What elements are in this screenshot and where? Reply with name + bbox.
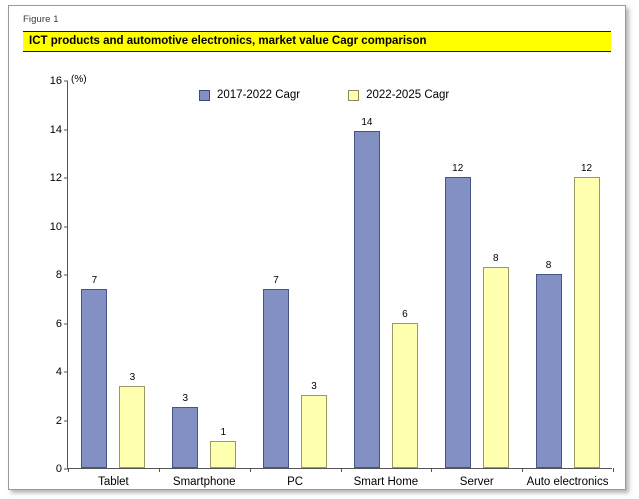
bar: 8 — [483, 267, 509, 468]
x-axis-tick-label: Auto electronics — [527, 476, 609, 488]
figure-title-bar: ICT products and automotive electronics,… — [23, 31, 611, 52]
bar: 7 — [81, 289, 107, 468]
bar-group: 73Tablet — [68, 81, 159, 468]
figure-number-label: Figure 1 — [23, 14, 59, 25]
x-axis-tick-label: Smart Home — [354, 476, 419, 488]
bar: 7 — [263, 289, 289, 468]
x-axis-tick-mark — [613, 468, 614, 472]
bar: 3 — [172, 407, 198, 468]
page-title: ICT products and automotive electronics,… — [29, 35, 427, 47]
chart-plot-area: 0246810121416 73Tablet31Smartphone73PC14… — [67, 81, 612, 469]
bar: 12 — [574, 177, 600, 468]
bar: 1 — [210, 441, 236, 468]
chart-axes: 0246810121416 73Tablet31Smartphone73PC14… — [67, 81, 612, 469]
bar: 14 — [354, 131, 380, 468]
bar-value-label: 12 — [452, 163, 463, 174]
bar: 3 — [301, 395, 327, 468]
bar-value-label: 14 — [361, 117, 372, 128]
bar-value-label: 3 — [182, 393, 188, 404]
figure-page: Figure 1 ICT products and automotive ele… — [0, 0, 639, 499]
bar-group: 128Server — [431, 81, 522, 468]
bar: 12 — [445, 177, 471, 468]
bar-group: 146Smart Home — [341, 81, 432, 468]
bar-value-label: 3 — [130, 372, 136, 383]
x-axis-tick-mark — [250, 468, 251, 472]
bar-value-label: 7 — [92, 275, 98, 286]
bar-value-label: 3 — [311, 381, 317, 392]
bar-value-label: 6 — [402, 309, 408, 320]
x-axis-tick-mark — [159, 468, 160, 472]
bar-value-label: 1 — [220, 427, 226, 438]
x-axis-tick-mark — [341, 468, 342, 472]
bar-group: 73PC — [250, 81, 341, 468]
bar-value-label: 8 — [493, 253, 499, 264]
x-axis-tick-mark — [68, 468, 69, 472]
x-axis-tick-label: Tablet — [98, 476, 129, 488]
x-axis-tick-label: PC — [287, 476, 303, 488]
bar-value-label: 8 — [546, 260, 552, 271]
x-axis-tick-mark — [522, 468, 523, 472]
x-axis-tick-label: Smartphone — [173, 476, 236, 488]
bar: 6 — [392, 323, 418, 469]
x-axis-tick-label: Server — [460, 476, 494, 488]
figure-frame: Figure 1 ICT products and automotive ele… — [8, 5, 626, 490]
bar: 3 — [119, 386, 145, 468]
bar-value-label: 12 — [581, 163, 592, 174]
bar-group: 812Auto electronics — [522, 81, 613, 468]
bar: 8 — [536, 274, 562, 468]
bar-group: 31Smartphone — [159, 81, 250, 468]
bar-value-label: 7 — [273, 275, 279, 286]
x-axis-tick-mark — [431, 468, 432, 472]
